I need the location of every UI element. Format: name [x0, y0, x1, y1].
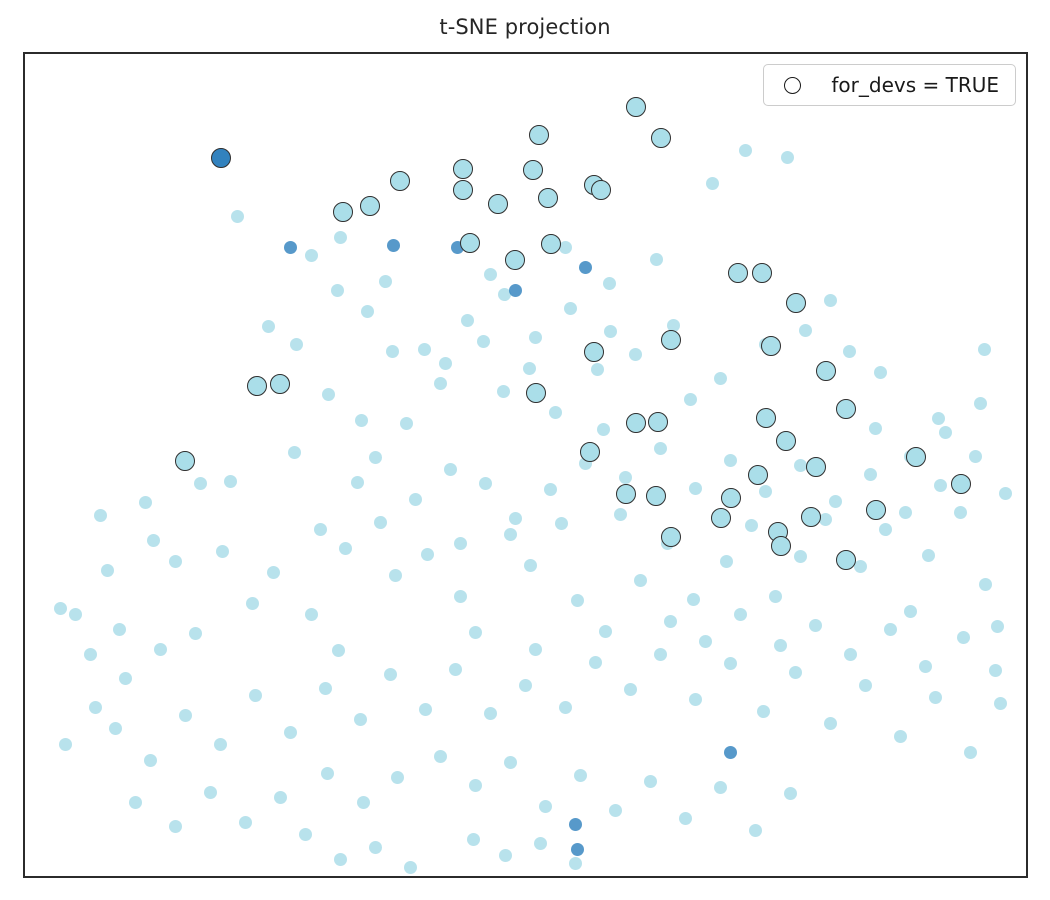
scatter-point	[509, 284, 522, 297]
scatter-point	[284, 241, 297, 254]
scatter-point	[454, 537, 467, 550]
scatter-point	[469, 779, 482, 792]
scatter-point	[706, 177, 719, 190]
scatter-point	[169, 555, 182, 568]
scatter-point	[969, 450, 982, 463]
scatter-point	[69, 608, 82, 621]
scatter-point	[189, 627, 202, 640]
scatter-point	[629, 348, 642, 361]
figure-canvas: t-SNE projection for_devs = TRUE	[0, 0, 1050, 900]
scatter-point	[499, 849, 512, 862]
scatter-point	[571, 594, 584, 607]
scatter-point	[84, 648, 97, 661]
scatter-point-highlighted	[951, 474, 971, 494]
scatter-point	[224, 475, 237, 488]
scatter-point-highlighted	[526, 383, 546, 403]
scatter-point	[679, 812, 692, 825]
scatter-point	[357, 796, 370, 809]
scatter-point	[664, 615, 677, 628]
scatter-point-highlighted	[806, 457, 826, 477]
scatter-point	[484, 268, 497, 281]
scatter-point	[179, 709, 192, 722]
scatter-point	[824, 294, 837, 307]
scatter-point	[314, 523, 327, 536]
scatter-point	[689, 693, 702, 706]
page-title: t-SNE projection	[0, 14, 1050, 40]
scatter-point	[569, 818, 582, 831]
scatter-point	[824, 717, 837, 730]
scatter-point	[231, 210, 244, 223]
scatter-point	[332, 644, 345, 657]
scatter-point	[784, 787, 797, 800]
scatter-point	[687, 593, 700, 606]
scatter-point-highlighted	[626, 97, 646, 117]
scatter-point	[334, 853, 347, 866]
scatter-point-highlighted	[175, 451, 195, 471]
scatter-point	[794, 550, 807, 563]
scatter-point	[599, 625, 612, 638]
scatter-point-highlighted	[776, 431, 796, 451]
scatter-point	[216, 545, 229, 558]
scatter-point	[351, 476, 364, 489]
scatter-point-highlighted	[761, 336, 781, 356]
scatter-point	[434, 750, 447, 763]
scatter-point	[391, 771, 404, 784]
scatter-point	[461, 314, 474, 327]
scatter-point	[604, 325, 617, 338]
scatter-point-highlighted	[648, 412, 668, 432]
scatter-point-highlighted	[801, 507, 821, 527]
legend-entry-label: for_devs = TRUE	[831, 74, 999, 96]
scatter-point-highlighted	[646, 486, 666, 506]
scatter-point	[650, 253, 663, 266]
scatter-point	[571, 843, 584, 856]
scatter-point-highlighted	[529, 125, 549, 145]
scatter-point	[559, 241, 572, 254]
scatter-point	[689, 482, 702, 495]
scatter-point	[267, 566, 280, 579]
scatter-point-highlighted	[661, 527, 681, 547]
scatter-point	[154, 643, 167, 656]
scatter-point	[484, 707, 497, 720]
scatter-point	[418, 343, 431, 356]
scatter-point	[144, 754, 157, 767]
scatter-point-highlighted	[721, 488, 741, 508]
scatter-point	[619, 471, 632, 484]
scatter-point	[549, 406, 562, 419]
scatter-point	[113, 623, 126, 636]
scatter-point-highlighted	[538, 188, 558, 208]
scatter-point-highlighted	[591, 180, 611, 200]
scatter-point	[439, 357, 452, 370]
scatter-point	[509, 512, 522, 525]
scatter-point	[139, 496, 152, 509]
scatter-point	[644, 775, 657, 788]
scatter-point	[101, 564, 114, 577]
scatter-point	[389, 569, 402, 582]
scatter-point	[699, 635, 712, 648]
scatter-point	[869, 422, 882, 435]
scatter-point	[94, 509, 107, 522]
scatter-point	[109, 722, 122, 735]
scatter-point	[919, 660, 932, 673]
scatter-point	[288, 446, 301, 459]
scatter-point	[322, 388, 335, 401]
scatter-point	[624, 683, 637, 696]
scatter-point-highlighted	[661, 330, 681, 350]
scatter-point	[384, 668, 397, 681]
scatter-point	[934, 479, 947, 492]
scatter-point	[89, 701, 102, 714]
scatter-point	[859, 679, 872, 692]
scatter-point	[529, 643, 542, 656]
scatter-point	[246, 597, 259, 610]
scatter-point	[274, 791, 287, 804]
scatter-point	[654, 442, 667, 455]
scatter-point	[739, 144, 752, 157]
scatter-point	[939, 426, 952, 439]
scatter-point	[469, 626, 482, 639]
scatter-point	[879, 523, 892, 536]
scatter-point	[957, 631, 970, 644]
scatter-point	[714, 372, 727, 385]
scatter-point	[305, 249, 318, 262]
scatter-point	[564, 302, 577, 315]
scatter-point	[334, 231, 347, 244]
scatter-point	[299, 828, 312, 841]
scatter-point	[809, 619, 822, 632]
scatter-point-highlighted	[711, 508, 731, 528]
scatter-point-highlighted	[333, 202, 353, 222]
scatter-point	[194, 477, 207, 490]
scatter-point-highlighted	[616, 484, 636, 504]
scatter-point	[374, 516, 387, 529]
scatter-point	[757, 705, 770, 718]
scatter-point	[899, 506, 912, 519]
scatter-point	[781, 151, 794, 164]
scatter-point	[954, 506, 967, 519]
scatter-point	[204, 786, 217, 799]
scatter-point	[369, 451, 382, 464]
scatter-point	[454, 590, 467, 603]
scatter-point	[884, 623, 897, 636]
scatter-point	[539, 800, 552, 813]
scatter-point	[331, 284, 344, 297]
scatter-point	[843, 345, 856, 358]
scatter-point	[129, 796, 142, 809]
scatter-point	[249, 689, 262, 702]
scatter-point	[419, 703, 432, 716]
scatter-point-highlighted	[505, 250, 525, 270]
scatter-point	[321, 767, 334, 780]
scatter-point	[574, 769, 587, 782]
scatter-point	[449, 663, 462, 676]
scatter-point	[504, 528, 517, 541]
scatter-point	[524, 559, 537, 572]
scatter-point	[589, 656, 602, 669]
scatter-point-highlighted	[756, 408, 776, 428]
scatter-point	[749, 824, 762, 837]
scatter-point-highlighted	[460, 233, 480, 253]
scatter-point	[999, 487, 1012, 500]
scatter-point	[523, 362, 536, 375]
scatter-point	[634, 574, 647, 587]
scatter-point	[991, 620, 1004, 633]
scatter-point	[864, 468, 877, 481]
scatter-point	[519, 679, 532, 692]
scatter-point	[479, 477, 492, 490]
scatter-point-highlighted	[816, 361, 836, 381]
scatter-point-highlighted	[752, 263, 772, 283]
scatter-point	[529, 331, 542, 344]
scatter-point-highlighted	[836, 550, 856, 570]
scatter-point-highlighted	[211, 148, 231, 168]
scatter-points-layer	[25, 54, 1026, 876]
scatter-point	[745, 519, 758, 532]
scatter-point	[714, 781, 727, 794]
scatter-point	[874, 366, 887, 379]
scatter-point-highlighted	[651, 128, 671, 148]
scatter-point-highlighted	[488, 194, 508, 214]
scatter-point	[319, 682, 332, 695]
scatter-point	[769, 590, 782, 603]
scatter-point-highlighted	[523, 160, 543, 180]
scatter-point	[922, 549, 935, 562]
scatter-point-highlighted	[836, 399, 856, 419]
scatter-point	[477, 335, 490, 348]
scatter-point	[759, 485, 772, 498]
scatter-point	[497, 385, 510, 398]
scatter-point	[994, 697, 1007, 710]
scatter-point-highlighted	[453, 159, 473, 179]
scatter-point-highlighted	[866, 500, 886, 520]
scatter-point	[59, 738, 72, 751]
scatter-point	[724, 746, 737, 759]
scatter-point	[854, 560, 867, 573]
scatter-point	[609, 804, 622, 817]
scatter-point	[579, 261, 592, 274]
scatter-point	[544, 483, 557, 496]
scatter-point	[355, 414, 368, 427]
scatter-point	[409, 493, 422, 506]
scatter-point-highlighted	[748, 465, 768, 485]
scatter-point	[989, 664, 1002, 677]
scatter-point	[555, 517, 568, 530]
scatter-point	[684, 393, 697, 406]
scatter-point-highlighted	[626, 413, 646, 433]
scatter-point	[569, 857, 582, 870]
scatter-point	[979, 578, 992, 591]
scatter-point	[894, 730, 907, 743]
scatter-point	[214, 738, 227, 751]
scatter-point	[844, 648, 857, 661]
scatter-point	[400, 417, 413, 430]
scatter-point	[597, 423, 610, 436]
scatter-point	[819, 513, 832, 526]
scatter-point	[504, 756, 517, 769]
scatter-point	[789, 666, 802, 679]
scatter-point	[147, 534, 160, 547]
scatter-point	[932, 412, 945, 425]
scatter-point	[339, 542, 352, 555]
scatter-point	[904, 605, 917, 618]
legend[interactable]: for_devs = TRUE	[763, 64, 1016, 106]
scatter-point-highlighted	[906, 447, 926, 467]
plot-area: for_devs = TRUE	[23, 52, 1028, 878]
scatter-point	[720, 555, 733, 568]
scatter-point	[978, 343, 991, 356]
scatter-point	[387, 239, 400, 252]
scatter-point	[119, 672, 132, 685]
scatter-point	[386, 345, 399, 358]
scatter-point	[829, 495, 842, 508]
scatter-point	[54, 602, 67, 615]
scatter-point-highlighted	[584, 342, 604, 362]
scatter-point	[369, 841, 382, 854]
scatter-point	[284, 726, 297, 739]
scatter-point	[404, 861, 417, 874]
scatter-point-highlighted	[771, 536, 791, 556]
scatter-point	[421, 548, 434, 561]
scatter-point	[603, 277, 616, 290]
scatter-point	[724, 454, 737, 467]
scatter-point	[559, 701, 572, 714]
scatter-point	[354, 713, 367, 726]
scatter-point	[734, 608, 747, 621]
scatter-point	[614, 508, 627, 521]
scatter-point	[964, 746, 977, 759]
scatter-point	[591, 363, 604, 376]
scatter-point-highlighted	[580, 442, 600, 462]
scatter-point	[444, 463, 457, 476]
legend-marker-circle-icon	[784, 77, 801, 94]
scatter-point	[799, 324, 812, 337]
scatter-point	[361, 305, 374, 318]
scatter-point-highlighted	[360, 196, 380, 216]
scatter-point	[534, 837, 547, 850]
scatter-point-highlighted	[786, 293, 806, 313]
scatter-point-highlighted	[390, 171, 410, 191]
scatter-point	[290, 338, 303, 351]
scatter-point	[929, 691, 942, 704]
scatter-point-highlighted	[541, 234, 561, 254]
scatter-point-highlighted	[728, 263, 748, 283]
scatter-point	[305, 608, 318, 621]
scatter-point	[169, 820, 182, 833]
scatter-point	[774, 639, 787, 652]
scatter-point	[262, 320, 275, 333]
scatter-point	[379, 275, 392, 288]
scatter-point	[434, 377, 447, 390]
scatter-point-highlighted	[270, 374, 290, 394]
scatter-point	[467, 833, 480, 846]
scatter-point	[654, 648, 667, 661]
scatter-point	[974, 397, 987, 410]
scatter-point	[239, 816, 252, 829]
scatter-point-highlighted	[453, 180, 473, 200]
scatter-point-highlighted	[247, 376, 267, 396]
scatter-point	[724, 657, 737, 670]
